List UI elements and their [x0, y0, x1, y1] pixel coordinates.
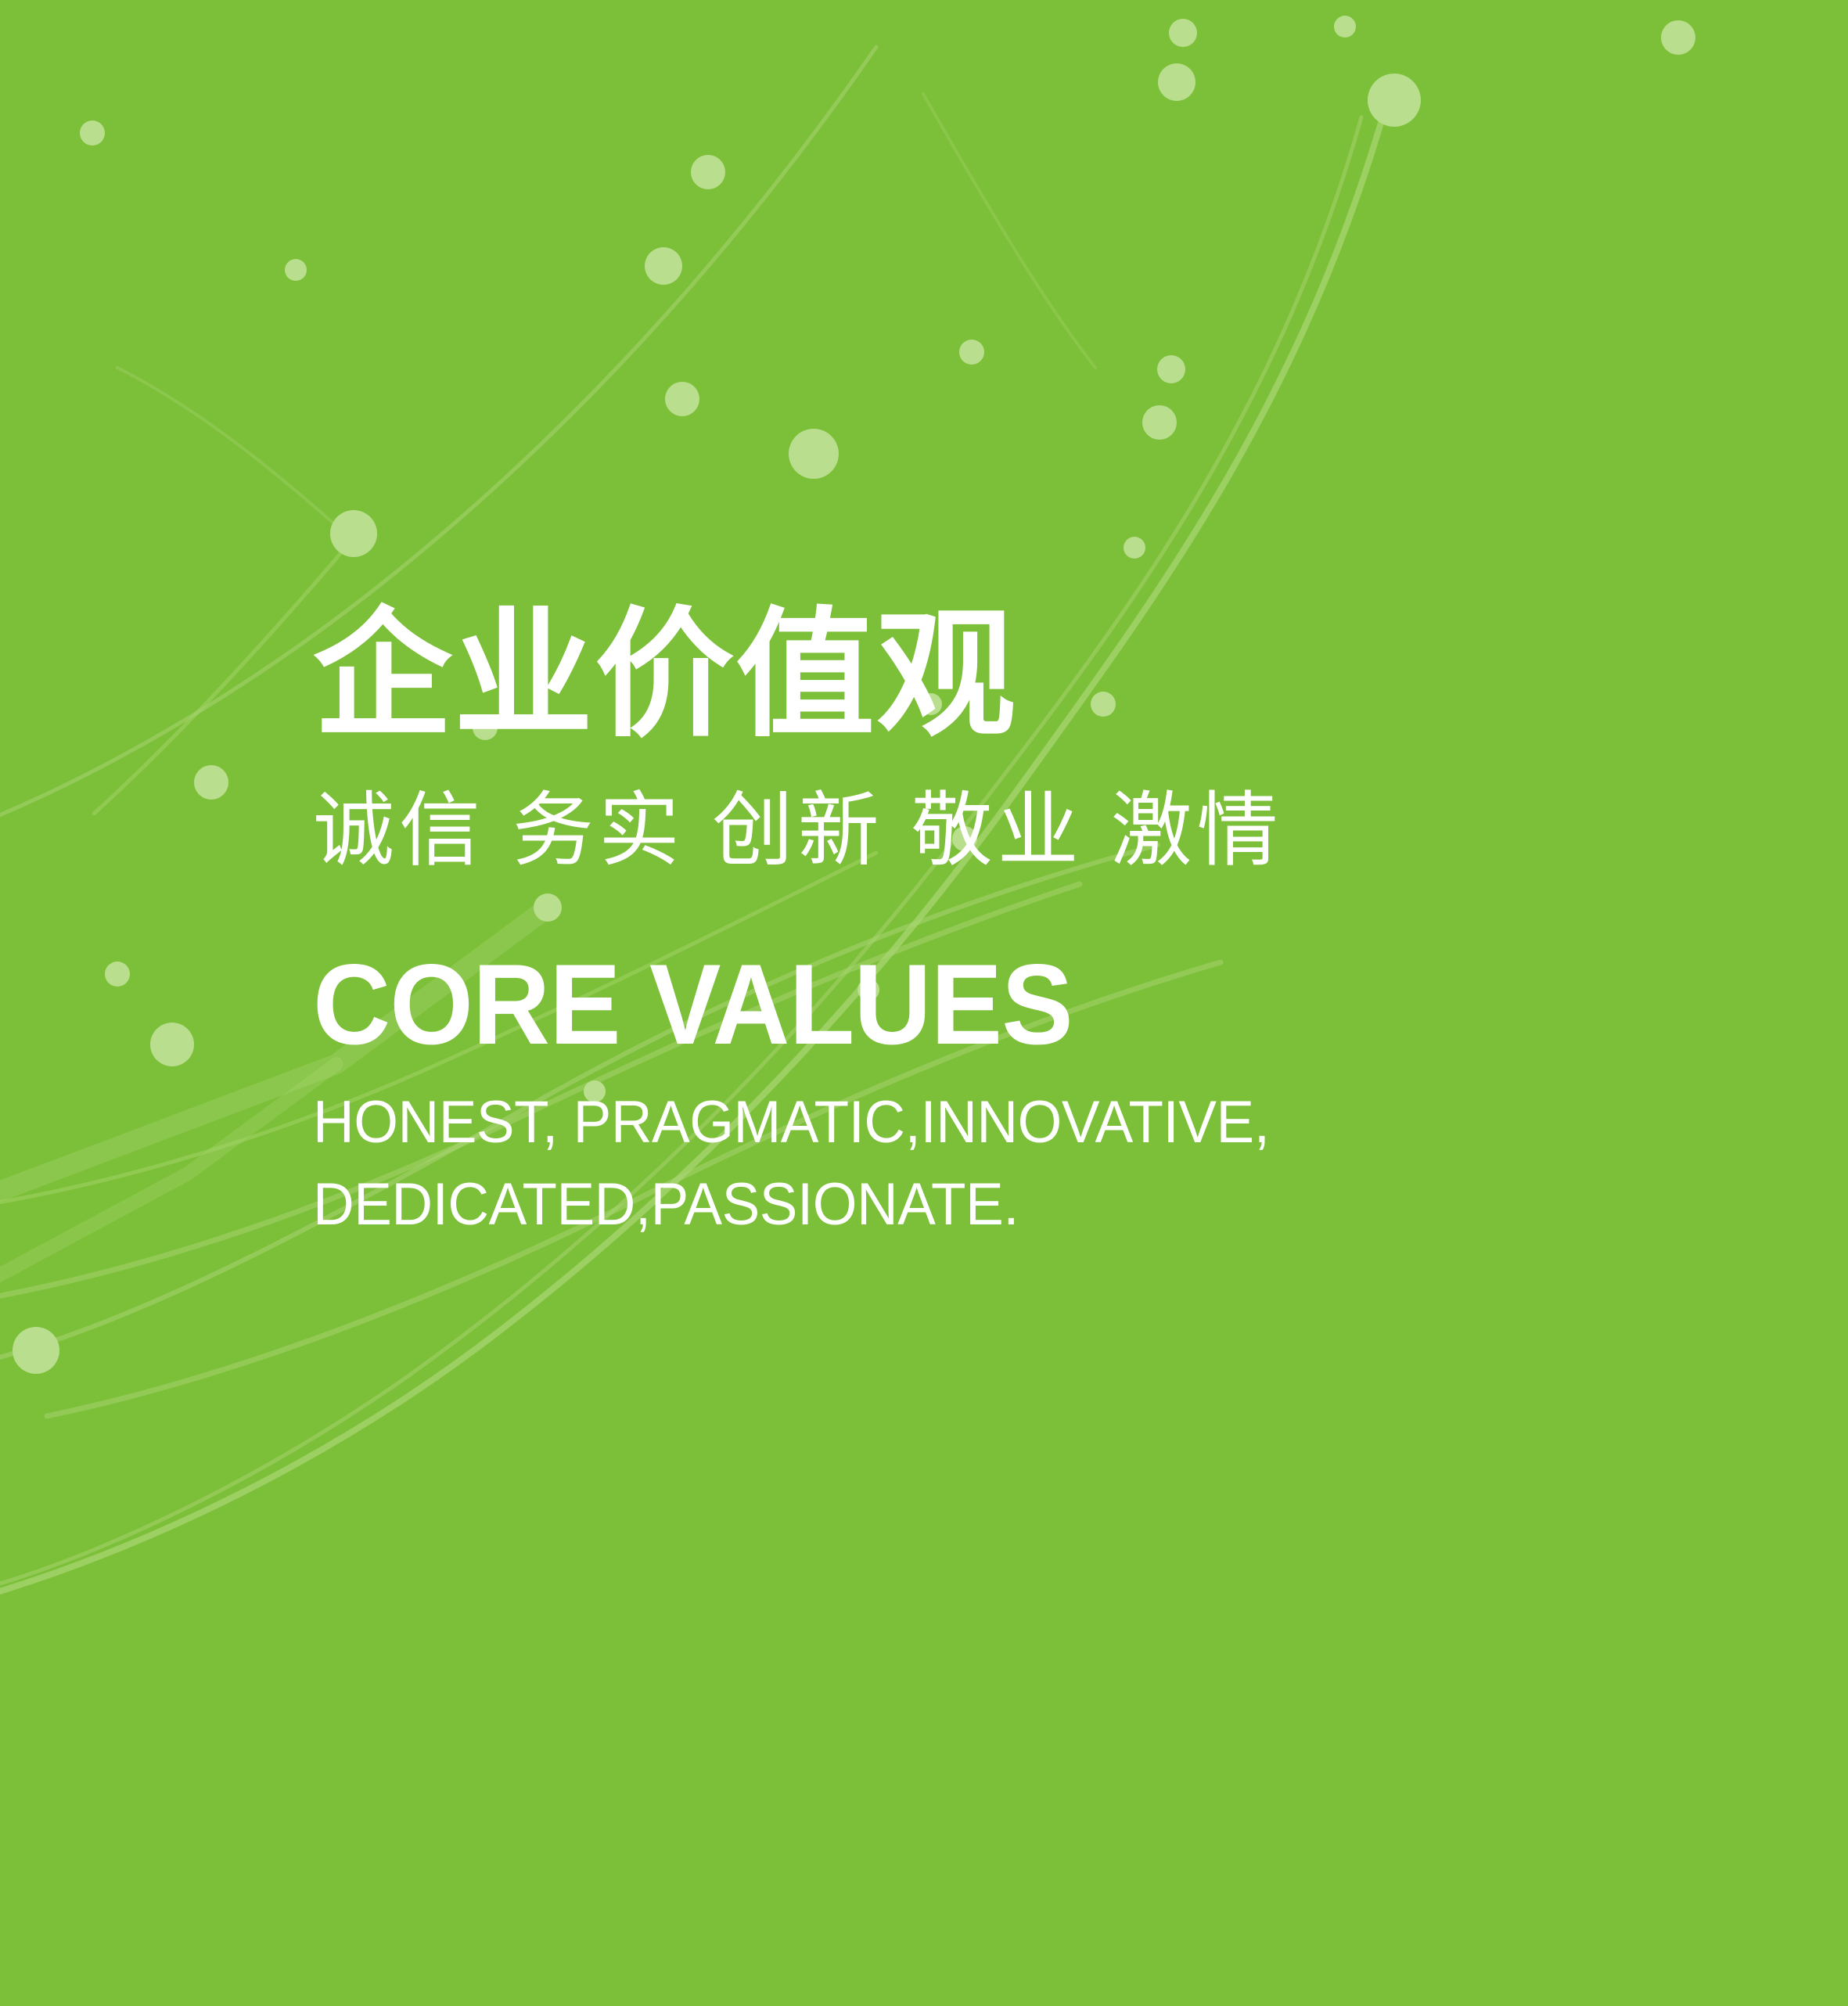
body-en-line-2: DEDICATED,PASSIONATE.	[313, 1164, 1665, 1246]
poster-text-block: 企业价值观 诚信 务实 创新 敬业 激情 CORE VALUES HONEST,…	[313, 602, 1721, 1246]
page-title-en: CORE VALUES	[313, 947, 1637, 1062]
network-node	[959, 340, 984, 365]
network-node	[194, 765, 228, 800]
network-node	[1334, 16, 1356, 38]
network-node	[1368, 74, 1421, 127]
body-en-line-1: HONEST, PRAGMATIC,INNOVATIVE,	[313, 1082, 1665, 1164]
network-node	[80, 120, 105, 146]
core-values-poster: 企业价值观 诚信 务实 创新 敬业 激情 CORE VALUES HONEST,…	[0, 0, 1848, 2006]
network-node	[150, 1023, 194, 1066]
subtitle-cn: 诚信 务实 创新 敬业 激情	[313, 786, 1721, 875]
network-node	[645, 247, 682, 285]
network-node	[1169, 19, 1197, 47]
network-node	[1158, 63, 1195, 101]
network-node	[665, 382, 699, 416]
network-node	[13, 1327, 59, 1374]
network-node	[285, 259, 307, 281]
network-node	[330, 510, 377, 557]
network-node	[691, 155, 725, 189]
network-node	[1157, 355, 1185, 383]
network-node	[105, 962, 130, 987]
network-node	[789, 429, 839, 479]
page-title-cn: 企业价值观	[313, 602, 1721, 749]
network-node	[1661, 20, 1695, 55]
body-en: HONEST, PRAGMATIC,INNOVATIVE, DEDICATED,…	[313, 1082, 1665, 1246]
network-node	[1124, 537, 1145, 559]
network-node	[1142, 405, 1177, 440]
